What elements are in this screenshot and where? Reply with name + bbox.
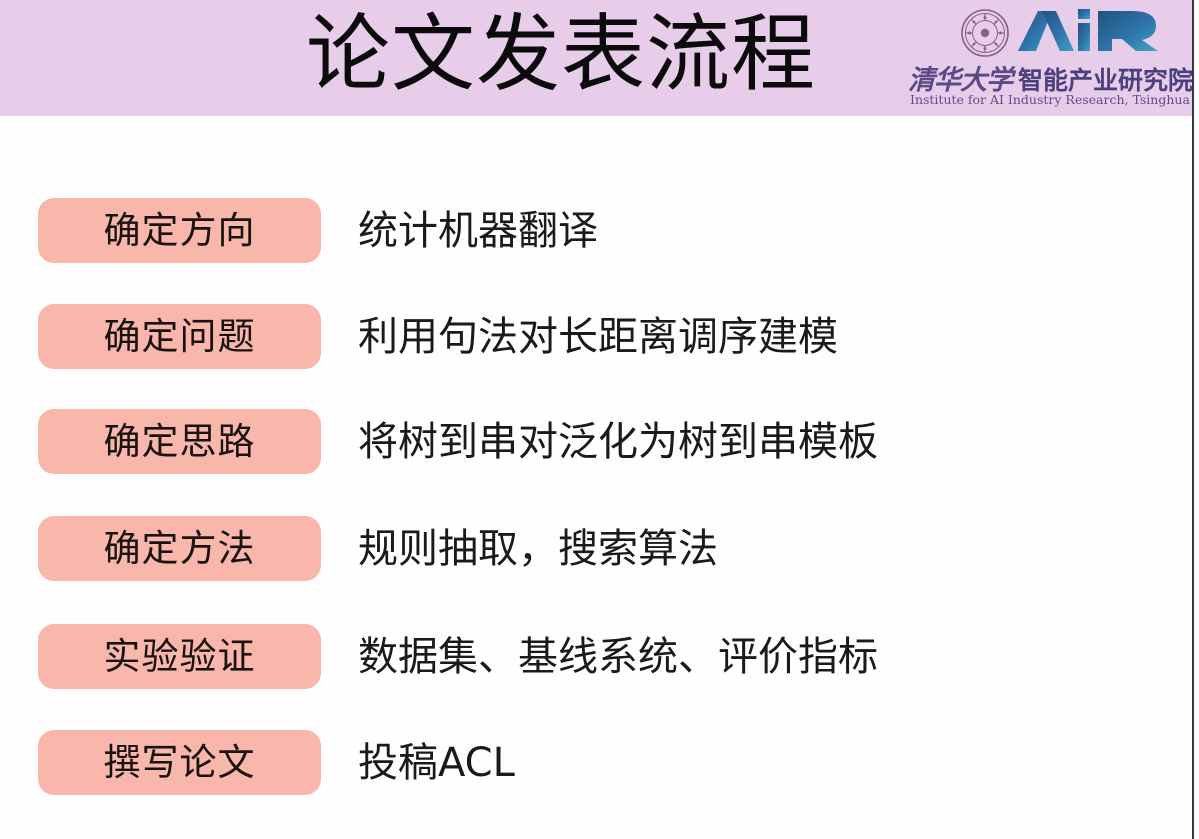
- process-row: 撰写论文 投稿ACL: [0, 730, 1192, 835]
- stage-pill-label: 实验验证: [104, 638, 256, 675]
- page-title: 论文发表流程: [306, 2, 896, 114]
- stage-pill-确定思路[interactable]: 确定思路: [38, 409, 321, 474]
- stage-pill-确定方法[interactable]: 确定方法: [38, 516, 321, 581]
- stage-pill-实验验证[interactable]: 实验验证: [38, 624, 321, 689]
- stage-detail: 投稿ACL: [358, 730, 1178, 795]
- process-step-list: 确定方向 统计机器翻译 确定问题 利用句法对长距离调序建模 确定思路 将树到串对…: [0, 116, 1192, 839]
- process-row: 确定方向 统计机器翻译: [0, 198, 1192, 303]
- slide-header-band: 论文发表流程: [0, 0, 1192, 116]
- stage-detail: 规则抽取，搜索算法: [358, 516, 1178, 581]
- stage-pill-label: 确定方向: [104, 212, 256, 249]
- logo-top-lockup: [960, 4, 1180, 60]
- stage-detail-text: 将树到串对泛化为树到串模板: [358, 422, 878, 462]
- stage-detail-text: 规则抽取，搜索算法: [358, 529, 718, 569]
- process-row: 确定问题 利用句法对长距离调序建模: [0, 304, 1192, 409]
- tsinghua-seal-icon: [960, 8, 1010, 58]
- process-row: 实验验证 数据集、基线系统、评价指标: [0, 624, 1192, 729]
- stage-detail: 将树到串对泛化为树到串模板: [358, 409, 1178, 474]
- logo-chinese-name: 清华大学智能产业研究院: [908, 58, 1180, 90]
- stage-detail: 统计机器翻译: [358, 198, 1178, 263]
- stage-detail: 利用句法对长距离调序建模: [358, 304, 1178, 369]
- stage-detail-text: 利用句法对长距离调序建模: [358, 317, 838, 357]
- air-wordmark-icon: [1016, 5, 1176, 57]
- stage-detail: 数据集、基线系统、评价指标: [358, 624, 1178, 689]
- process-row: 确定思路 将树到串对泛化为树到串模板: [0, 409, 1192, 514]
- stage-pill-label: 确定思路: [104, 423, 256, 460]
- stage-detail-text: 统计机器翻译: [358, 211, 598, 251]
- air-tsinghua-logo: 清华大学智能产业研究院 Institute for AI Industry Re…: [908, 4, 1180, 114]
- stage-pill-label: 撰写论文: [104, 744, 256, 781]
- stage-pill-确定问题[interactable]: 确定问题: [38, 304, 321, 369]
- stage-detail-text: 投稿ACL: [358, 743, 515, 783]
- stage-detail-text: 数据集、基线系统、评价指标: [358, 637, 878, 677]
- logo-institute-name-en: Institute for AI Industry Research, Tsin…: [910, 92, 1182, 110]
- stage-pill-确定方向[interactable]: 确定方向: [38, 198, 321, 263]
- stage-pill-撰写论文[interactable]: 撰写论文: [38, 730, 321, 795]
- stage-pill-label: 确定问题: [104, 318, 256, 355]
- stage-pill-label: 确定方法: [104, 530, 256, 567]
- process-row: 确定方法 规则抽取，搜索算法: [0, 516, 1192, 621]
- slide-canvas: 论文发表流程: [0, 0, 1199, 839]
- slide-right-edge: [1192, 0, 1199, 839]
- logo-institute-name-cn: 智能产业研究院: [1018, 66, 1193, 95]
